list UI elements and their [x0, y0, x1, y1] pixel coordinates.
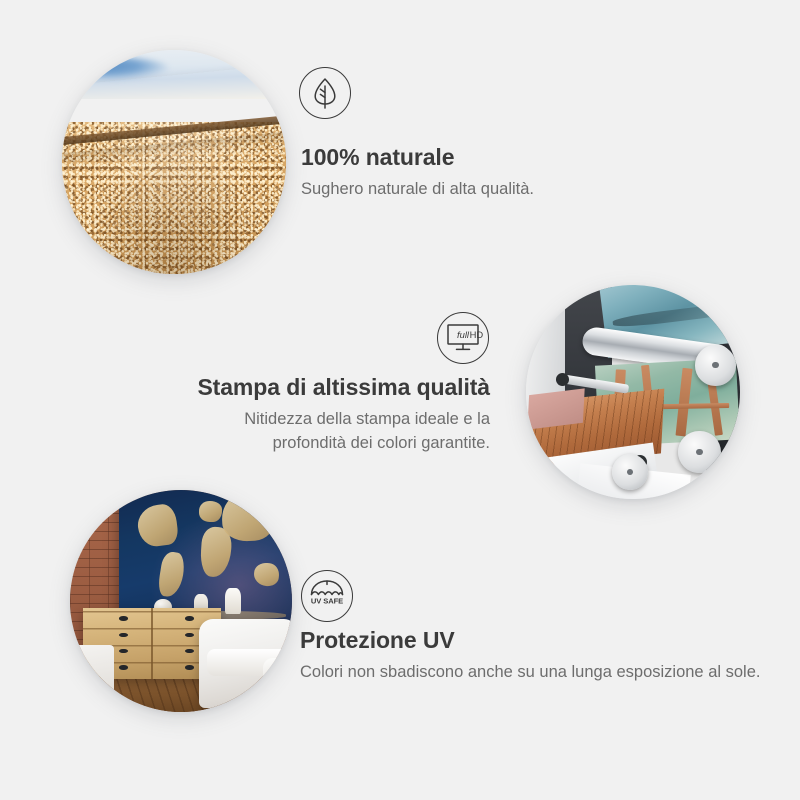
cork-photo-content: [62, 50, 286, 274]
continent-europe: [199, 501, 222, 522]
continent-australia: [253, 562, 280, 588]
print-plank: [675, 367, 692, 436]
printing-machine-image: [526, 285, 740, 499]
feature-text-natural: 100% naturale Sughero naturale di alta q…: [301, 144, 534, 202]
uv-safe-icon-label: UV SAFE: [311, 597, 343, 606]
uv-safe-umbrella-icon: UV SAFE: [301, 570, 353, 622]
room-photo-content: [70, 490, 292, 712]
cork-material-closeup-image: [62, 50, 286, 274]
fullhd-icon-label-part1: full: [457, 329, 470, 340]
continent-south-america: [156, 551, 186, 599]
second-armchair: [70, 645, 114, 712]
drawer-knob: [119, 616, 128, 621]
drawer-knob: [119, 649, 128, 654]
feature-showcase-page: 100% naturale Sughero naturale di alta q…: [0, 0, 800, 800]
drawer-knob: [185, 616, 194, 621]
white-armchair: [199, 619, 292, 708]
printer-wheel: [678, 431, 721, 474]
feature-description-uv-protection: Colori non sbadiscono anche su una lunga…: [300, 661, 760, 684]
drawer-knob: [119, 633, 128, 638]
armchair-backrest: [263, 658, 290, 685]
decorative-lamp: [225, 588, 241, 615]
printer-wheel: [695, 345, 736, 386]
interior-world-map-image: [70, 490, 292, 712]
continent-asia: [221, 493, 277, 543]
drawer-knob: [185, 665, 194, 670]
continent-north-america: [136, 503, 180, 549]
feature-text-uv-protection: Protezione UV Colori non sbadiscono anch…: [300, 627, 760, 685]
drawer-knob: [185, 633, 194, 638]
feature-title-uv-protection: Protezione UV: [300, 627, 760, 654]
fullhd-icon-label-part2: HD: [470, 329, 484, 340]
feature-title-print-quality: Stampa di altissima qualità: [190, 374, 490, 401]
leaf-icon: [299, 67, 351, 119]
printed-deck-highlight: [527, 388, 584, 429]
feature-title-natural: 100% naturale: [301, 144, 534, 171]
feature-description-natural: Sughero naturale di alta qualità.: [301, 178, 534, 201]
printer-knob: [556, 373, 569, 386]
drawer-knob: [185, 649, 194, 654]
fullhd-monitor-icon: full HD: [437, 312, 489, 364]
feature-description-print-quality: Nitidezza della stampa ideale e la profo…: [190, 408, 490, 455]
feature-text-print-quality: Stampa di altissima qualità Nitidezza de…: [190, 374, 490, 455]
printer-photo-content: [526, 285, 740, 499]
drawer-knob: [119, 665, 128, 670]
